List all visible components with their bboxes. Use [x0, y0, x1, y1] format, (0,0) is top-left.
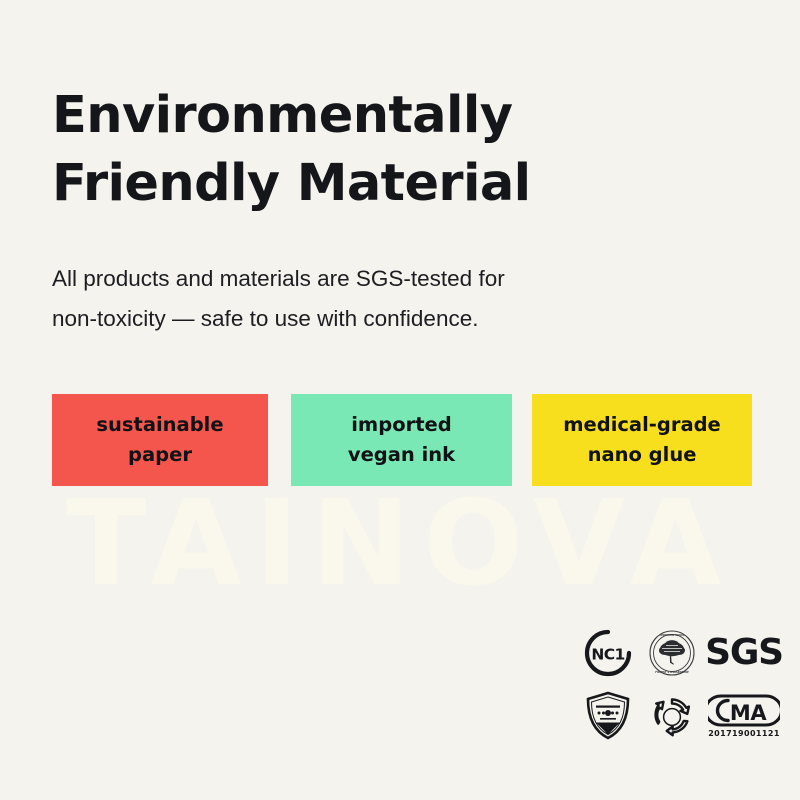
svg-text:NC1: NC1: [591, 646, 624, 664]
nc1-certification-icon: NC1: [583, 628, 633, 678]
page-title-line-1: Environmentally: [52, 82, 752, 150]
material-badge-row: sustainable paper imported vegan ink med…: [52, 394, 752, 486]
material-badge-medical-grade-nano-glue: medical-grade nano glue: [532, 394, 752, 486]
sgs-certification-icon: SGS: [705, 634, 783, 672]
svg-text:FOREST STEWARDSHIP: FOREST STEWARDSHIP: [655, 670, 689, 674]
shield-quality-icon: [585, 691, 631, 741]
material-badge-sustainable-paper: sustainable paper: [52, 394, 268, 486]
page-title-line-2: Friendly Material: [52, 150, 752, 218]
fsc-tree-seal-icon: CERTIFIED WOOD FOREST STEWARDSHIP: [648, 629, 696, 677]
svg-text:CERTIFIED WOOD: CERTIFIED WOOD: [659, 633, 685, 637]
cma-certification-icon: MA 201719001121: [708, 694, 780, 739]
brand-watermark: TAINOVA: [0, 478, 800, 608]
svg-text:MA: MA: [730, 701, 767, 725]
material-badge-label-line-1: imported: [351, 410, 451, 440]
page-subtitle: All products and materials are SGS-teste…: [52, 259, 692, 339]
material-badge-imported-vegan-ink: imported vegan ink: [291, 394, 512, 486]
recycling-symbol-icon: [649, 693, 695, 739]
material-badge-label-line-2: nano glue: [588, 440, 697, 470]
material-badge-label-line-2: paper: [128, 440, 192, 470]
material-badge-label-line-2: vegan ink: [348, 440, 455, 470]
cma-certification-number: 201719001121: [708, 729, 780, 739]
page-title: Environmentally Friendly Material: [52, 82, 752, 218]
poster-canvas: TAINOVA Environmentally Friendly Materia…: [0, 0, 800, 800]
material-badge-label-line-1: sustainable: [96, 410, 223, 440]
page-subtitle-line-2: non-toxicity — safe to use with confiden…: [52, 299, 692, 339]
page-subtitle-line-1: All products and materials are SGS-teste…: [52, 259, 692, 299]
certification-mark-grid: NC1 CERTIFIED WOOD FO: [575, 622, 785, 748]
material-badge-label-line-1: medical-grade: [563, 410, 721, 440]
